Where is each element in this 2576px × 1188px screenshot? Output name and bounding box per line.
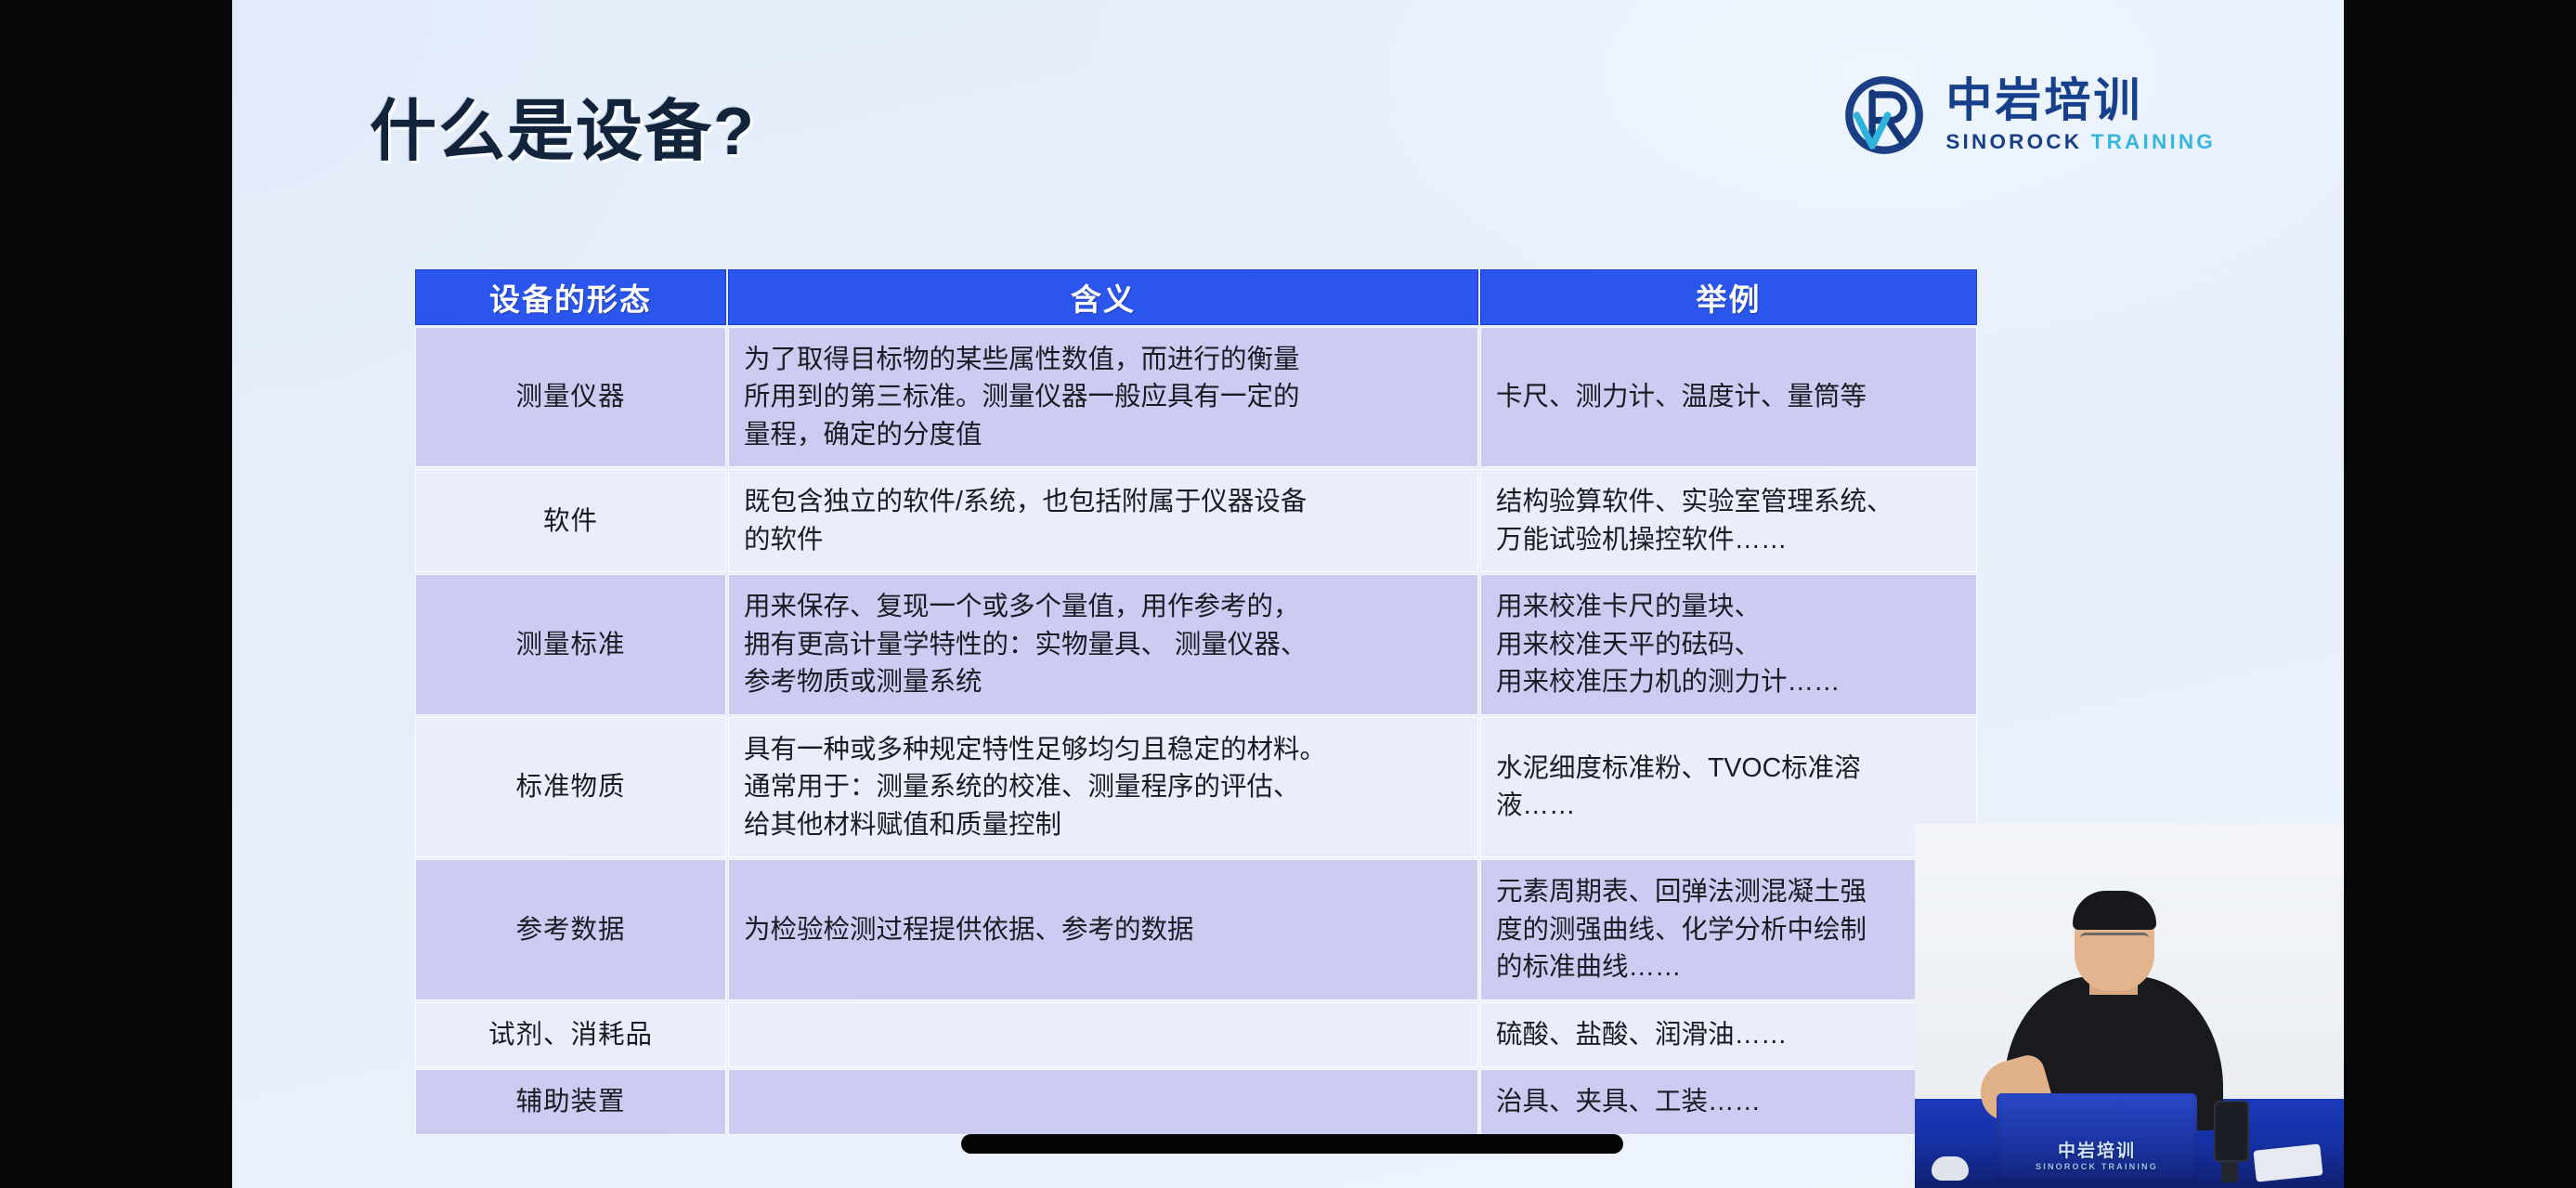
- letterbox-left: [0, 0, 232, 1188]
- cell-meaning: 用来保存、复现一个或多个量值，用作参考的，拥有更高计量学特性的：实物量具、 测量…: [728, 574, 1478, 714]
- sinorock-r-logo-icon: [1841, 72, 1927, 158]
- table-header-row: 设备的形态 含义 举例: [415, 269, 1977, 325]
- equipment-forms-table: 设备的形态 含义 举例 测量仪器为了取得目标物的某些属性数值，而进行的衡量所用到…: [413, 268, 1979, 1137]
- table-row: 软件既包含独立的软件/系统，也包括附属于仪器设备的软件结构验算软件、实验室管理系…: [415, 469, 1977, 572]
- cell-form: 测量仪器: [415, 327, 726, 467]
- pip-laptop: 中岩培训 SINOROCK TRAINING: [1997, 1093, 2197, 1182]
- cell-line: 硫酸、盐酸、润滑油……: [1496, 1016, 1961, 1053]
- brand-en-sinorock: SINOROCK: [1945, 130, 2090, 153]
- cell-line: 用来保存、复现一个或多个量值，用作参考的，: [744, 588, 1463, 625]
- pip-laptop-logo: 中岩培训 SINOROCK TRAINING: [1997, 1142, 2197, 1171]
- presenter-video-overlay: 中岩培训 SINOROCK TRAINING: [1915, 824, 2344, 1188]
- cell-form: 测量标准: [415, 574, 726, 714]
- table-row: 测量仪器为了取得目标物的某些属性数值，而进行的衡量所用到的第三标准。测量仪器一般…: [415, 327, 1977, 467]
- cell-line: 参考物质或测量系统: [744, 663, 1463, 700]
- cell-line: 量程，确定的分度值: [744, 416, 1463, 453]
- brand-name-cn: 中岩培训: [1945, 77, 2216, 124]
- cell-line: 液……: [1496, 787, 1961, 824]
- table-row: 标准物质具有一种或多种规定特性足够均匀且稳定的材料。通常用于：测量系统的校准、测…: [415, 717, 1977, 857]
- pip-phone: [2214, 1101, 2249, 1162]
- cell-line: 拥有更高计量学特性的：实物量具、 测量仪器、: [744, 626, 1463, 663]
- cell-line: 用来校准压力机的测力计……: [1496, 663, 1961, 700]
- cell-meaning: 为检验检测过程提供依据、参考的数据: [728, 859, 1478, 999]
- cell-form: 辅助装置: [415, 1069, 726, 1134]
- table-body: 测量仪器为了取得目标物的某些属性数值，而进行的衡量所用到的第三标准。测量仪器一般…: [415, 327, 1977, 1135]
- cell-line: 为检验检测过程提供依据、参考的数据: [744, 911, 1463, 948]
- cell-examples: 结构验算软件、实验室管理系统、万能试验机操控软件……: [1480, 469, 1977, 572]
- column-header-form: 设备的形态: [415, 269, 726, 325]
- cell-line: 的标准曲线……: [1496, 948, 1961, 986]
- column-header-meaning: 含义: [728, 269, 1478, 325]
- cell-examples: 水泥细度标准粉、TVOC标准溶液……: [1480, 717, 1977, 857]
- table-row: 辅助装置治具、夹具、工装……: [415, 1069, 1977, 1134]
- slide-title: 什么是设备?: [370, 76, 756, 174]
- cell-examples: 硫酸、盐酸、润滑油……: [1480, 1002, 1977, 1067]
- letterbox-right: [2344, 0, 2576, 1188]
- cell-meaning: 既包含独立的软件/系统，也包括附属于仪器设备的软件: [728, 469, 1478, 572]
- brand-name-en: SINOROCK TRAINING: [1945, 132, 2216, 153]
- cell-line: 为了取得目标物的某些属性数值，而进行的衡量: [744, 341, 1463, 378]
- table-row: 参考数据为检验检测过程提供依据、参考的数据元素周期表、回弹法测混凝土强度的测强曲…: [415, 859, 1977, 999]
- cell-examples: 用来校准卡尺的量块、用来校准天平的砝码、用来校准压力机的测力计……: [1480, 574, 1977, 714]
- cell-examples: 元素周期表、回弹法测混凝土强度的测强曲线、化学分析中绘制的标准曲线……: [1480, 859, 1977, 999]
- cell-line: 万能试验机操控软件……: [1496, 521, 1961, 558]
- cell-form: 标准物质: [415, 717, 726, 857]
- cell-line: 元素周期表、回弹法测混凝土强: [1496, 873, 1961, 910]
- cell-line: 治具、夹具、工装……: [1496, 1083, 1961, 1120]
- cell-line: 卡尺、测力计、温度计、量筒等: [1496, 378, 1961, 415]
- cell-line: 的软件: [744, 521, 1463, 558]
- table-row: 测量标准用来保存、复现一个或多个量值，用作参考的，拥有更高计量学特性的：实物量具…: [415, 574, 1977, 714]
- cell-line: 通常用于：测量系统的校准、测量程序的评估、: [744, 768, 1463, 805]
- brand-text: 中岩培训 SINOROCK TRAINING: [1945, 77, 2216, 153]
- cell-form: 软件: [415, 469, 726, 572]
- cell-meaning: [728, 1069, 1478, 1134]
- pip-mouse: [1932, 1156, 1969, 1181]
- slide-bottom-bar: [961, 1134, 1623, 1154]
- cell-line: 既包含独立的软件/系统，也包括附属于仪器设备: [744, 483, 1463, 520]
- brand-logo: 中岩培训 SINOROCK TRAINING: [1841, 72, 2216, 158]
- cell-line: 结构验算软件、实验室管理系统、: [1496, 483, 1961, 520]
- cell-form: 试剂、消耗品: [415, 1002, 726, 1067]
- cell-line: 用来校准卡尺的量块、: [1496, 588, 1961, 625]
- brand-en-training: TRAINING: [2091, 130, 2216, 153]
- pip-laptop-logo-en: SINOROCK TRAINING: [1997, 1162, 2197, 1171]
- cell-form: 参考数据: [415, 859, 726, 999]
- cell-line: 水泥细度标准粉、TVOC标准溶: [1496, 750, 1961, 787]
- table-row: 试剂、消耗品硫酸、盐酸、润滑油……: [415, 1002, 1977, 1067]
- cell-meaning: [728, 1002, 1478, 1067]
- cell-line: 所用到的第三标准。测量仪器一般应具有一定的: [744, 378, 1463, 415]
- cell-meaning: 具有一种或多种规定特性足够均匀且稳定的材料。通常用于：测量系统的校准、测量程序的…: [728, 717, 1478, 857]
- column-header-examples: 举例: [1480, 269, 1977, 325]
- cell-meaning: 为了取得目标物的某些属性数值，而进行的衡量所用到的第三标准。测量仪器一般应具有一…: [728, 327, 1478, 467]
- pip-presenter-glasses: [2080, 933, 2149, 948]
- cell-examples: 治具、夹具、工装……: [1480, 1069, 1977, 1134]
- presentation-slide: 什么是设备? 中岩培训 SINOROCK TRAINING 设备的形态: [232, 0, 2344, 1188]
- video-player: 什么是设备? 中岩培训 SINOROCK TRAINING 设备的形态: [0, 0, 2576, 1188]
- cell-line: 度的测强曲线、化学分析中绘制: [1496, 911, 1961, 948]
- cell-line: 用来校准天平的砝码、: [1496, 626, 1961, 663]
- cell-line: 具有一种或多种规定特性足够均匀且稳定的材料。: [744, 731, 1463, 768]
- cell-examples: 卡尺、测力计、温度计、量筒等: [1480, 327, 1977, 467]
- cell-line: 给其他材料赋值和质量控制: [744, 806, 1463, 843]
- pip-laptop-logo-cn: 中岩培训: [2058, 1142, 2136, 1161]
- equipment-forms-table-wrapper: 设备的形态 含义 举例 测量仪器为了取得目标物的某些属性数值，而进行的衡量所用到…: [413, 268, 1971, 1137]
